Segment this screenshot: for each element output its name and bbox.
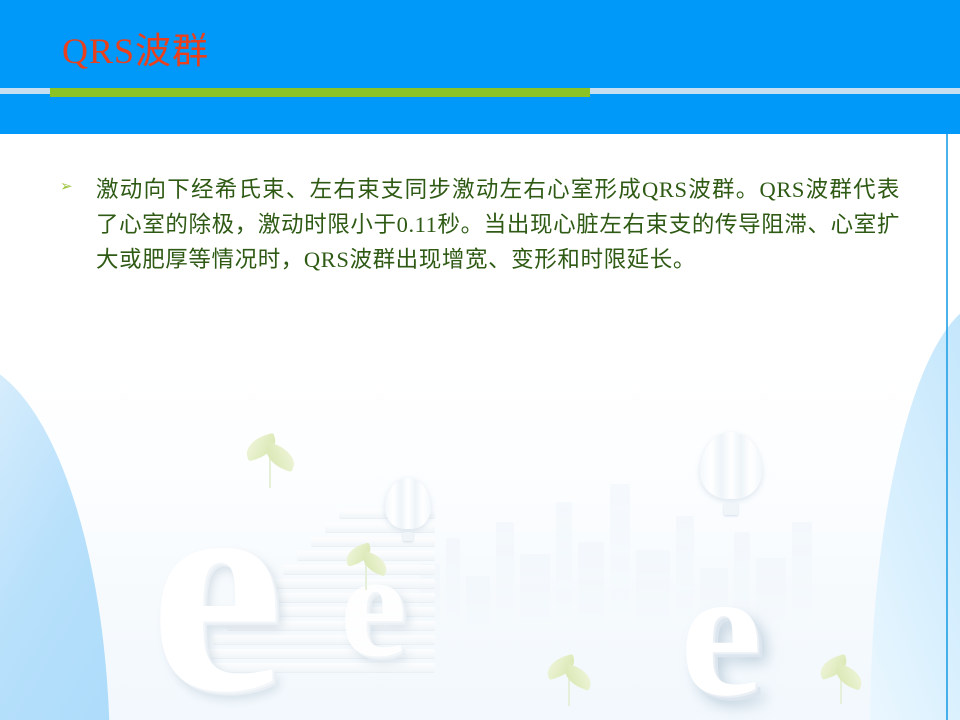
header-green-accent-bar <box>50 88 590 97</box>
slide-canvas: e e e <box>0 0 960 720</box>
bullet-arrow-icon: ➢ <box>60 172 96 195</box>
slide-title: QRS波群 <box>62 22 209 74</box>
slide-body: ➢ 激动向下经希氏束、左右束支同步激动左右心室形成QRS波群。QRS波群代表了心… <box>0 134 960 720</box>
slide-header-band: QRS波群 <box>0 0 960 134</box>
bullet-item: ➢ 激动向下经希氏束、左右束支同步激动左右心室形成QRS波群。QRS波群代表了心… <box>60 172 900 277</box>
bullet-paragraph-text: 激动向下经希氏束、左右束支同步激动左右心室形成QRS波群。QRS波群代表了心室的… <box>96 172 900 277</box>
